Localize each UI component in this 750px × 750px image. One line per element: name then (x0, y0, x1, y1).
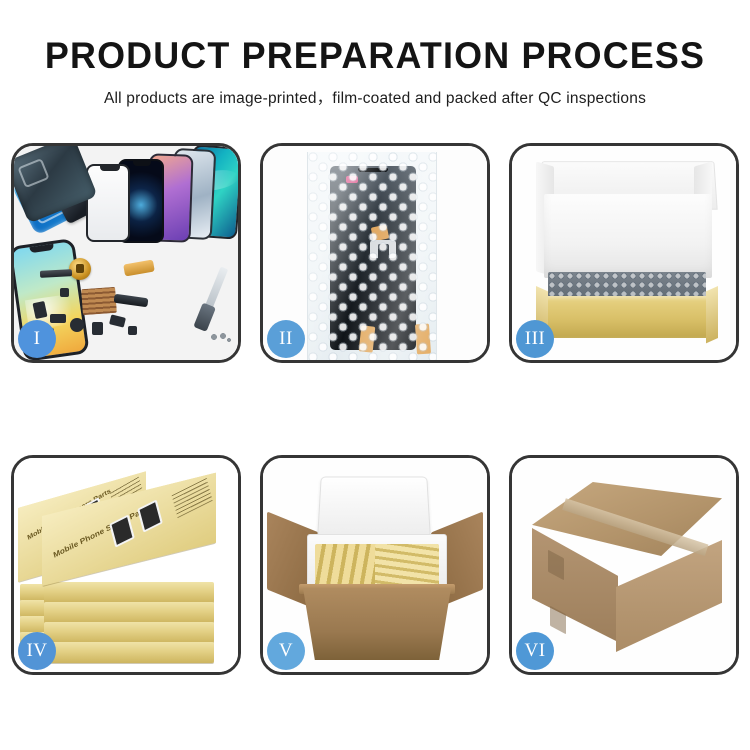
small-part-icon (60, 288, 69, 297)
styrofoam-lid (317, 477, 431, 538)
screws-icon (210, 332, 232, 342)
bubble-wrap-bag (307, 152, 437, 360)
flex-cable-dark-icon (114, 294, 149, 308)
process-step-3: III (509, 143, 739, 363)
step-badge-5: V (267, 632, 305, 670)
glass-panel-icon (86, 164, 130, 242)
carton-front-face (303, 588, 451, 660)
stacked-box (44, 602, 214, 623)
chip-grid-part-icon (81, 287, 117, 315)
step-badge-6: VI (516, 632, 554, 670)
process-step-grid: I (11, 143, 739, 675)
small-part-icon (50, 314, 66, 323)
flex-cable-gold-icon (123, 259, 155, 276)
step-badge-2: II (267, 320, 305, 358)
process-step-1: I (11, 143, 241, 363)
page-subtitle: All products are image-printed，film-coat… (0, 86, 750, 108)
process-step-2: II (260, 143, 490, 363)
process-step-5: V (260, 455, 490, 675)
stacked-box (44, 582, 214, 603)
small-part-icon (128, 326, 137, 335)
foam-sheet (544, 194, 712, 278)
header: PRODUCT PREPARATION PROCESS All products… (0, 0, 750, 108)
stacked-box (44, 622, 214, 643)
gold-coil-part-icon (69, 258, 91, 280)
process-step-6: VI (509, 455, 739, 675)
gold-box-tray (536, 296, 718, 338)
process-step-4: Mobile Phone Spare Parts Mobile Phone Sp… (11, 455, 241, 675)
small-part-icon (92, 322, 103, 335)
page-title: PRODUCT PREPARATION PROCESS (11, 35, 739, 77)
small-part-icon (109, 314, 126, 327)
screwdriver-icon (200, 267, 228, 322)
product-preparation-infographic: PRODUCT PREPARATION PROCESS All products… (0, 0, 750, 750)
step-badge-3: III (516, 320, 554, 358)
carton-right-face (616, 540, 722, 652)
carton-left-face (532, 528, 618, 642)
stacked-box (44, 642, 214, 663)
step-badge-1: I (18, 320, 56, 358)
packed-gold-boxes (375, 544, 439, 588)
plastic-sheen (308, 152, 436, 360)
step-badge-4: IV (18, 632, 56, 670)
small-part-icon (70, 318, 84, 332)
